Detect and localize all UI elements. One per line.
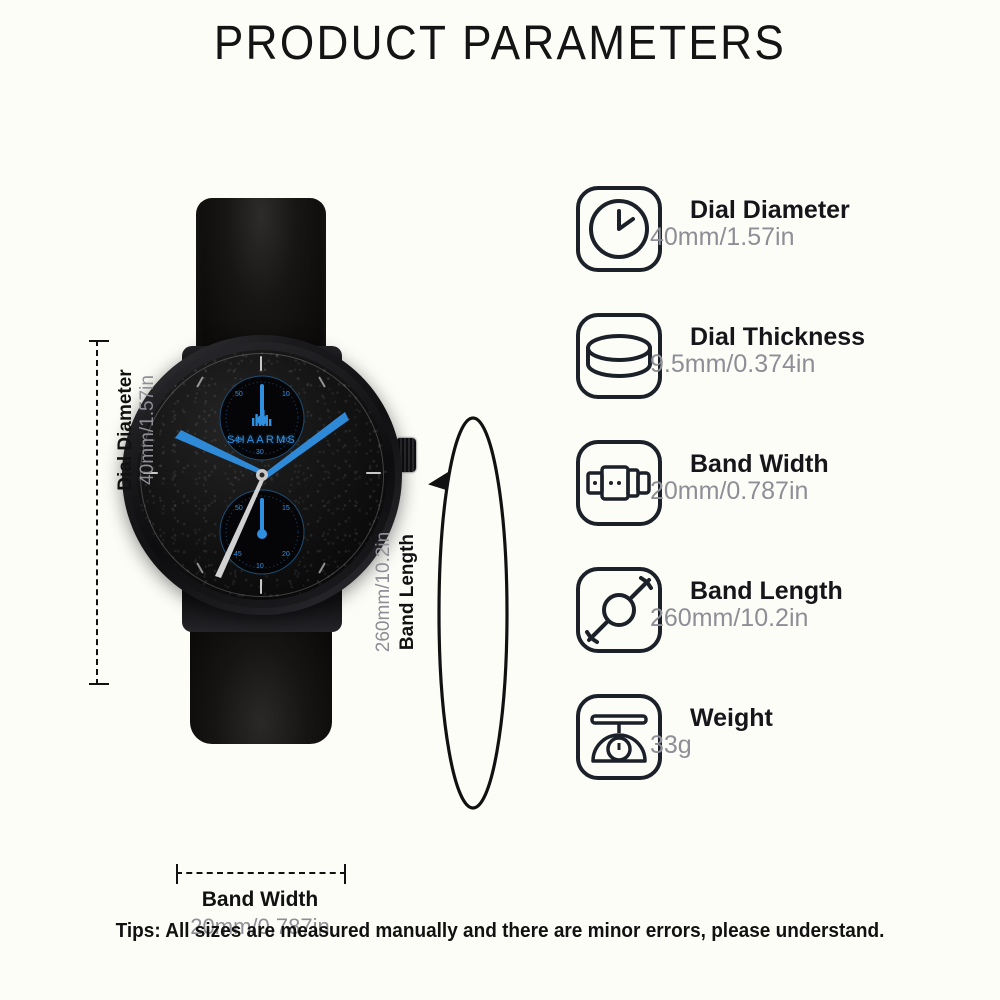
dimension-cap-bottom — [89, 683, 109, 685]
bar-chart-logo-icon — [252, 410, 274, 426]
watch-dial: 50 10 20 30 45 50 15 20 — [137, 350, 387, 600]
svg-text:20: 20 — [282, 551, 290, 558]
spec-value: 9.5mm/0.374in — [650, 351, 950, 377]
band-length-callout-label: Band Length — [397, 477, 419, 707]
dial-graphics: 50 10 20 30 45 50 15 20 — [137, 350, 387, 600]
svg-text:10: 10 — [282, 391, 290, 398]
spec-value: 33g — [650, 732, 950, 758]
spec-label: Dial Thickness — [690, 324, 990, 350]
spec-label: Dial Diameter — [690, 197, 990, 223]
dial-diameter-callout-value: 40mm/1.57in — [137, 315, 159, 545]
spec-label: Band Width — [690, 451, 990, 477]
dimension-cap-left — [176, 864, 178, 884]
band-width-dimension-line — [176, 872, 346, 875]
svg-text:30: 30 — [256, 449, 264, 456]
brand-name: SHAARMS — [227, 434, 297, 446]
svg-text:15: 15 — [282, 505, 290, 512]
tips-note: Tips: All sizes are measured manually an… — [25, 920, 975, 943]
dimension-cap-top — [89, 340, 109, 342]
dial-diameter-callout: Dial Diameter 40mm/1.57in — [113, 315, 173, 545]
subdial-bottom: 50 15 20 10 45 — [220, 490, 304, 574]
band-length-callout-value: 260mm/10.2in — [373, 477, 395, 707]
spec-row-band-width: Band Width 20mm/0.787in — [575, 439, 975, 566]
svg-text:10: 10 — [256, 563, 264, 570]
spec-value: 260mm/10.2in — [650, 605, 950, 631]
infographic-page: PRODUCT PARAMETERS — [0, 0, 1000, 1000]
spec-list: Dial Diameter 40mm/1.57in Dial Thickness… — [575, 185, 975, 820]
spec-label: Weight — [690, 705, 990, 731]
spec-row-weight: Weight 33g — [575, 693, 975, 820]
dimension-cap-right — [344, 864, 346, 884]
spec-row-dial-diameter: Dial Diameter 40mm/1.57in — [575, 185, 975, 312]
dial-diameter-dimension-line — [96, 340, 99, 685]
spec-label: Band Length — [690, 578, 990, 604]
svg-text:50: 50 — [235, 391, 243, 398]
spec-row-dial-thickness: Dial Thickness 9.5mm/0.374in — [575, 312, 975, 439]
spec-value: 20mm/0.787in — [650, 478, 950, 504]
page-title: PRODUCT PARAMETERS — [40, 16, 960, 71]
band-width-callout-label: Band Width — [110, 888, 410, 912]
watch-illustration: 50 10 20 30 45 50 15 20 — [0, 150, 540, 830]
svg-text:50: 50 — [235, 505, 243, 512]
dial-diameter-callout-label: Dial Diameter — [115, 315, 137, 545]
spec-value: 40mm/1.57in — [650, 224, 950, 250]
svg-text:45: 45 — [234, 551, 242, 558]
spec-row-band-length: Band Length 260mm/10.2in — [575, 566, 975, 693]
band-length-callout: Band Length 260mm/10.2in — [397, 477, 457, 707]
